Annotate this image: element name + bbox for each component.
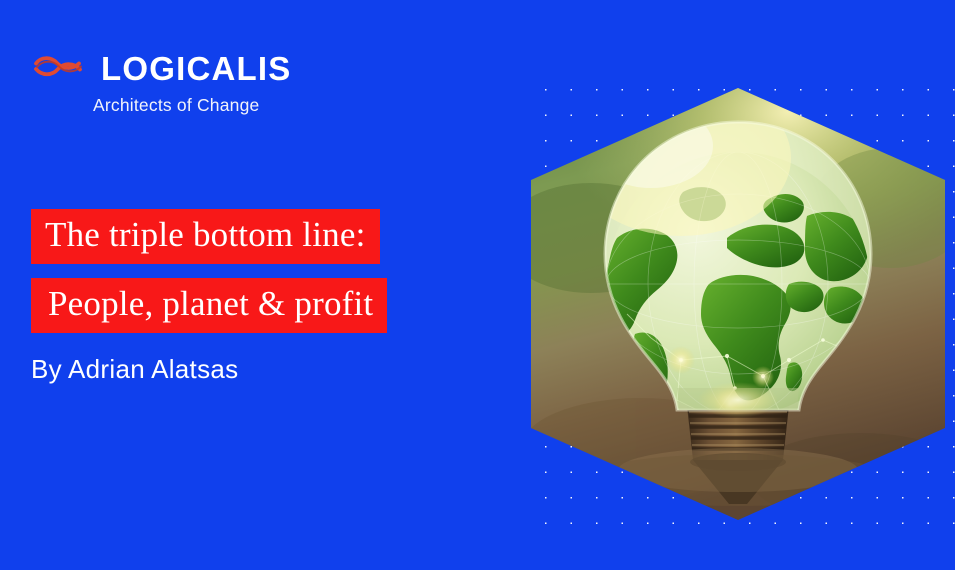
- logicalis-logo[interactable]: LOGICALIS Architects of Change: [31, 48, 331, 118]
- headline-line-1: The triple bottom line:: [31, 209, 380, 264]
- page-title: The triple bottom line: People, planet &…: [31, 209, 431, 333]
- byline: By Adrian Alatsas: [31, 354, 238, 385]
- logo-tagline: Architects of Change: [31, 96, 331, 115]
- logo-wordmark: LOGICALIS: [101, 52, 291, 85]
- lightbulb-green-earth-photo: [531, 88, 945, 520]
- banner-root: LOGICALIS Architects of Change The tripl…: [0, 0, 955, 570]
- logicalis-infinity-ribbon-icon: [31, 51, 87, 85]
- headline-line-2: People, planet & profit: [31, 278, 387, 333]
